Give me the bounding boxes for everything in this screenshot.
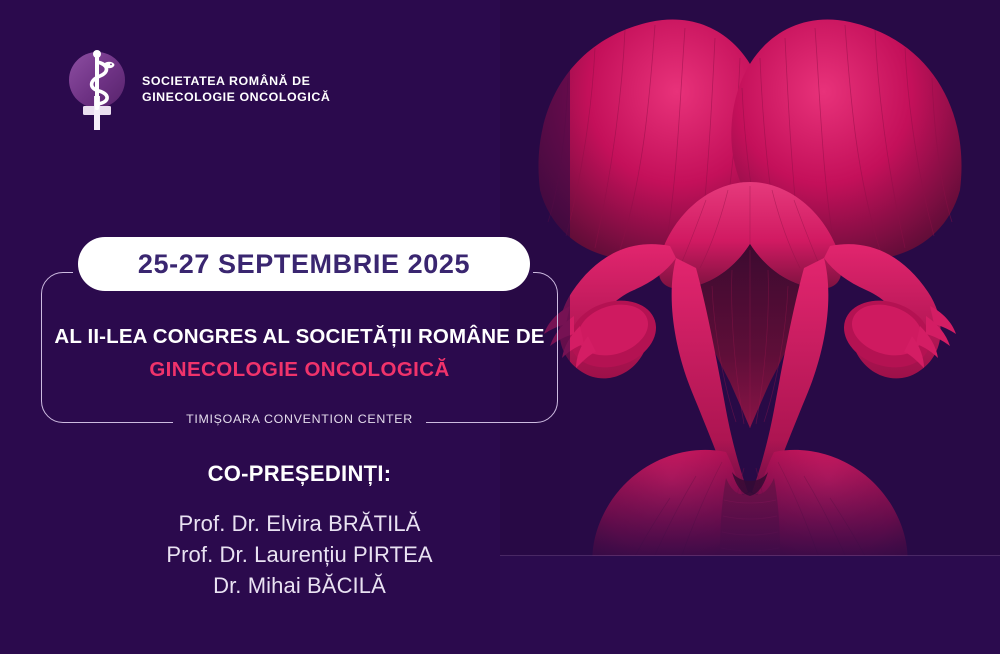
congress-title: AL II-LEA CONGRES AL SOCIETĂȚII ROMÂNE D…: [41, 325, 558, 349]
illustration-lower-band: [500, 556, 1000, 654]
copresidents-list: Prof. Dr. Elvira BRĂTILĂ Prof. Dr. Laure…: [41, 508, 558, 601]
society-logo-line-1: SOCIETATEA ROMÂNĂ DE: [142, 74, 310, 88]
society-logo-line-2: GINECOLOGIE ONCOLOGICĂ: [142, 90, 330, 104]
event-dates-pill: 25-27 SEPTEMBRIE 2025: [78, 237, 530, 291]
venue-caption: TIMIȘOARA CONVENTION CENTER: [41, 412, 558, 426]
copresident-name: Dr. Mihai BĂCILĂ: [41, 570, 558, 601]
copresidents-heading: CO-PREȘEDINȚI:: [41, 461, 558, 487]
congress-subtitle: GINECOLOGIE ONCOLOGICĂ: [41, 358, 558, 382]
event-dates-label: 25-27 SEPTEMBRIE 2025: [138, 249, 470, 280]
copresident-name: Prof. Dr. Laurențiu PIRTEA: [41, 539, 558, 570]
congress-poster: SOCIETATEA ROMÂNĂ DE GINECOLOGIE ONCOLOG…: [0, 0, 1000, 654]
venue-label: TIMIȘOARA CONVENTION CENTER: [173, 412, 426, 426]
rod-of-asclepius-female-symbol-icon: [64, 46, 130, 132]
copresident-name: Prof. Dr. Elvira BRĂTILĂ: [41, 508, 558, 539]
uterus-ovaries-flower-illustration: [500, 0, 1000, 556]
society-logo: SOCIETATEA ROMÂNĂ DE GINECOLOGIE ONCOLOG…: [64, 46, 330, 132]
illustration-seam: [500, 555, 1000, 556]
society-logo-text: SOCIETATEA ROMÂNĂ DE GINECOLOGIE ONCOLOG…: [142, 73, 330, 106]
